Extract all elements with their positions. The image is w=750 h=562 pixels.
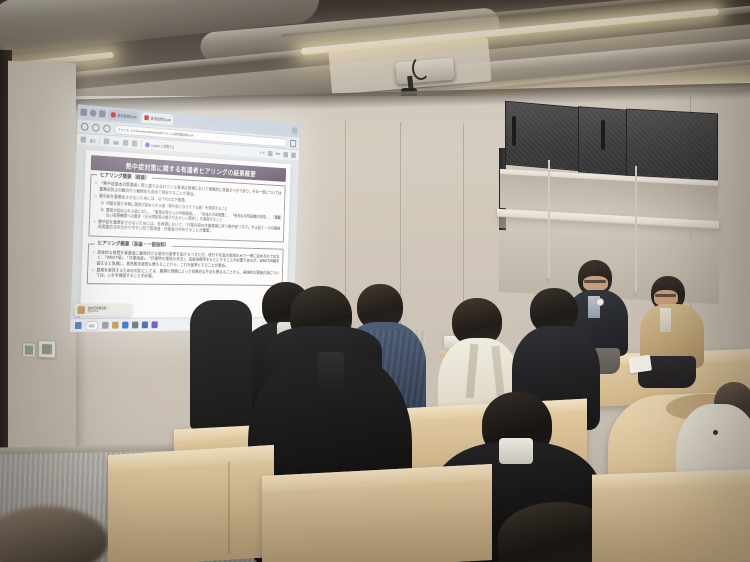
store-icon[interactable] xyxy=(132,322,138,329)
pdf-favicon xyxy=(145,115,150,120)
explorer-icon[interactable] xyxy=(112,322,119,329)
uniform-button xyxy=(713,430,718,435)
copilot-button[interactable]: Copilot に質問する xyxy=(145,142,175,149)
bullet-marker: ○ xyxy=(95,180,98,191)
taskview-icon[interactable] xyxy=(102,322,109,329)
page-indicator: 1 / 4 xyxy=(259,151,264,155)
presenter-navy-face xyxy=(583,276,608,291)
bullet-marker: ① xyxy=(101,200,104,205)
split-screen-icon[interactable] xyxy=(99,110,106,117)
bullet-marker: ② xyxy=(100,207,104,218)
handout-papers xyxy=(628,355,652,374)
bench-front-center xyxy=(262,464,492,562)
bullet-text: 異常を発見するための対応としては、職場の規模によって効果的な手法も異なることから… xyxy=(96,267,279,280)
browser-tab-2[interactable]: 熱中症資料2.pdf xyxy=(142,112,174,125)
pdf-favicon xyxy=(111,112,116,117)
bullet-marker: ○ xyxy=(94,193,96,199)
profile-icon[interactable] xyxy=(90,109,97,116)
erase-icon[interactable] xyxy=(132,140,138,146)
zoom-out-icon[interactable] xyxy=(267,151,272,157)
copilot-icon xyxy=(145,142,150,147)
bench-front-right xyxy=(592,469,750,562)
slide-bullet: ○ 具体的な措置を事業者に義務付ける場合の基準を設けるべきだが、現行や先進の取組… xyxy=(92,249,279,269)
search-placeholder: 検索 xyxy=(89,323,95,327)
hoodie-back-panel xyxy=(318,352,344,396)
window-menu-icon[interactable] xyxy=(80,109,87,117)
draw-icon[interactable] xyxy=(104,138,110,144)
zoom-in-icon[interactable] xyxy=(283,152,288,158)
new-tab-icon[interactable] xyxy=(292,127,298,134)
cord-end xyxy=(633,292,637,297)
teams-icon[interactable] xyxy=(151,321,157,328)
browser-tab-label: 熱中症資料2.pdf xyxy=(151,116,171,123)
browser-tab-label: 熱中症資料.pdf xyxy=(117,113,136,120)
attendee-torso xyxy=(190,300,252,430)
bullet-marker: ○ xyxy=(93,219,96,230)
cabinet-handle[interactable] xyxy=(512,116,516,146)
name-badge xyxy=(596,298,604,306)
draw-label: 描画 xyxy=(113,139,119,144)
glasses-icon xyxy=(584,280,606,283)
start-icon[interactable] xyxy=(75,322,82,329)
cabinet-handle[interactable] xyxy=(601,120,605,150)
zoom-value: 78% xyxy=(275,152,280,156)
hanging-cord xyxy=(635,166,637,294)
view-label: 表示 xyxy=(90,138,96,143)
preview-subtitle: 資料PDF xyxy=(88,310,107,313)
view-mode-icon[interactable] xyxy=(80,136,86,142)
favorite-icon[interactable] xyxy=(290,139,296,147)
search-input[interactable]: 検索 xyxy=(85,320,98,330)
browser-tab-1[interactable]: 熱中症資料.pdf xyxy=(108,109,139,122)
forward-icon[interactable] xyxy=(92,123,100,132)
slide-section-details: ヒアリング概要（各論・一部抜粋） ○ 具体的な措置を事業者に義務付ける場合の基準… xyxy=(87,243,284,286)
pdf-app-icon xyxy=(77,306,85,314)
pdf-page: 熱中症対策に関する有識者ヒアリングの結果概要 ヒアリング概要（総論） ○ 「熱中… xyxy=(80,150,291,319)
bullet-marker: ○ xyxy=(92,267,95,278)
glasses-icon xyxy=(655,294,676,297)
url-prefix: ファイル xyxy=(118,127,129,133)
slide-bullet: ○ 異常を発見するための対応としては、職場の規模によって効果的な手法も異なること… xyxy=(92,267,279,280)
projector-cable xyxy=(412,56,430,80)
wall-controller-small[interactable] xyxy=(22,342,36,358)
back-icon[interactable] xyxy=(81,122,89,131)
section-heading: ヒアリング概要（各論・一部抜粋） xyxy=(95,240,172,249)
upper-cabinet-left[interactable] xyxy=(505,101,580,172)
toolbar-divider xyxy=(140,141,141,148)
thermostat-panel[interactable] xyxy=(38,340,56,359)
hanging-cord xyxy=(548,160,550,280)
fit-page-icon[interactable] xyxy=(291,152,296,158)
presenter-tan-shirt xyxy=(660,308,671,332)
bullet-text: 具体的な措置を事業者に義務付ける場合の基準を設けるべきだが、現行や先進の取組のみ… xyxy=(97,249,280,269)
attendee-collar xyxy=(499,438,533,464)
cord-end xyxy=(546,278,550,283)
copilot-label: Copilot に質問する xyxy=(151,142,174,149)
mail-icon[interactable] xyxy=(142,321,148,328)
slide-section-overview: ヒアリング概要（総論） ○ 「熱中症基本対策要綱」等に盛り込まれている事項は現場… xyxy=(88,174,285,242)
upper-cabinet-right[interactable] xyxy=(626,109,718,181)
url-value: C:/Users/hero/Downloads/ファイル/熱中症資料2.pdf xyxy=(131,128,194,138)
toolbar-divider xyxy=(99,137,100,144)
presentation-room-photo: 熱中症資料.pdf 熱中症資料2.pdf ファイル C:/Users/hero/… xyxy=(0,0,750,562)
refresh-icon[interactable] xyxy=(103,124,111,132)
highlight-icon[interactable] xyxy=(123,140,129,146)
taskbar-window-preview[interactable]: 熱中症対策資料 資料PDF xyxy=(74,304,131,316)
edge-icon[interactable] xyxy=(122,322,129,329)
bench-front-left xyxy=(108,445,274,562)
bullet-marker: ○ xyxy=(92,249,95,265)
